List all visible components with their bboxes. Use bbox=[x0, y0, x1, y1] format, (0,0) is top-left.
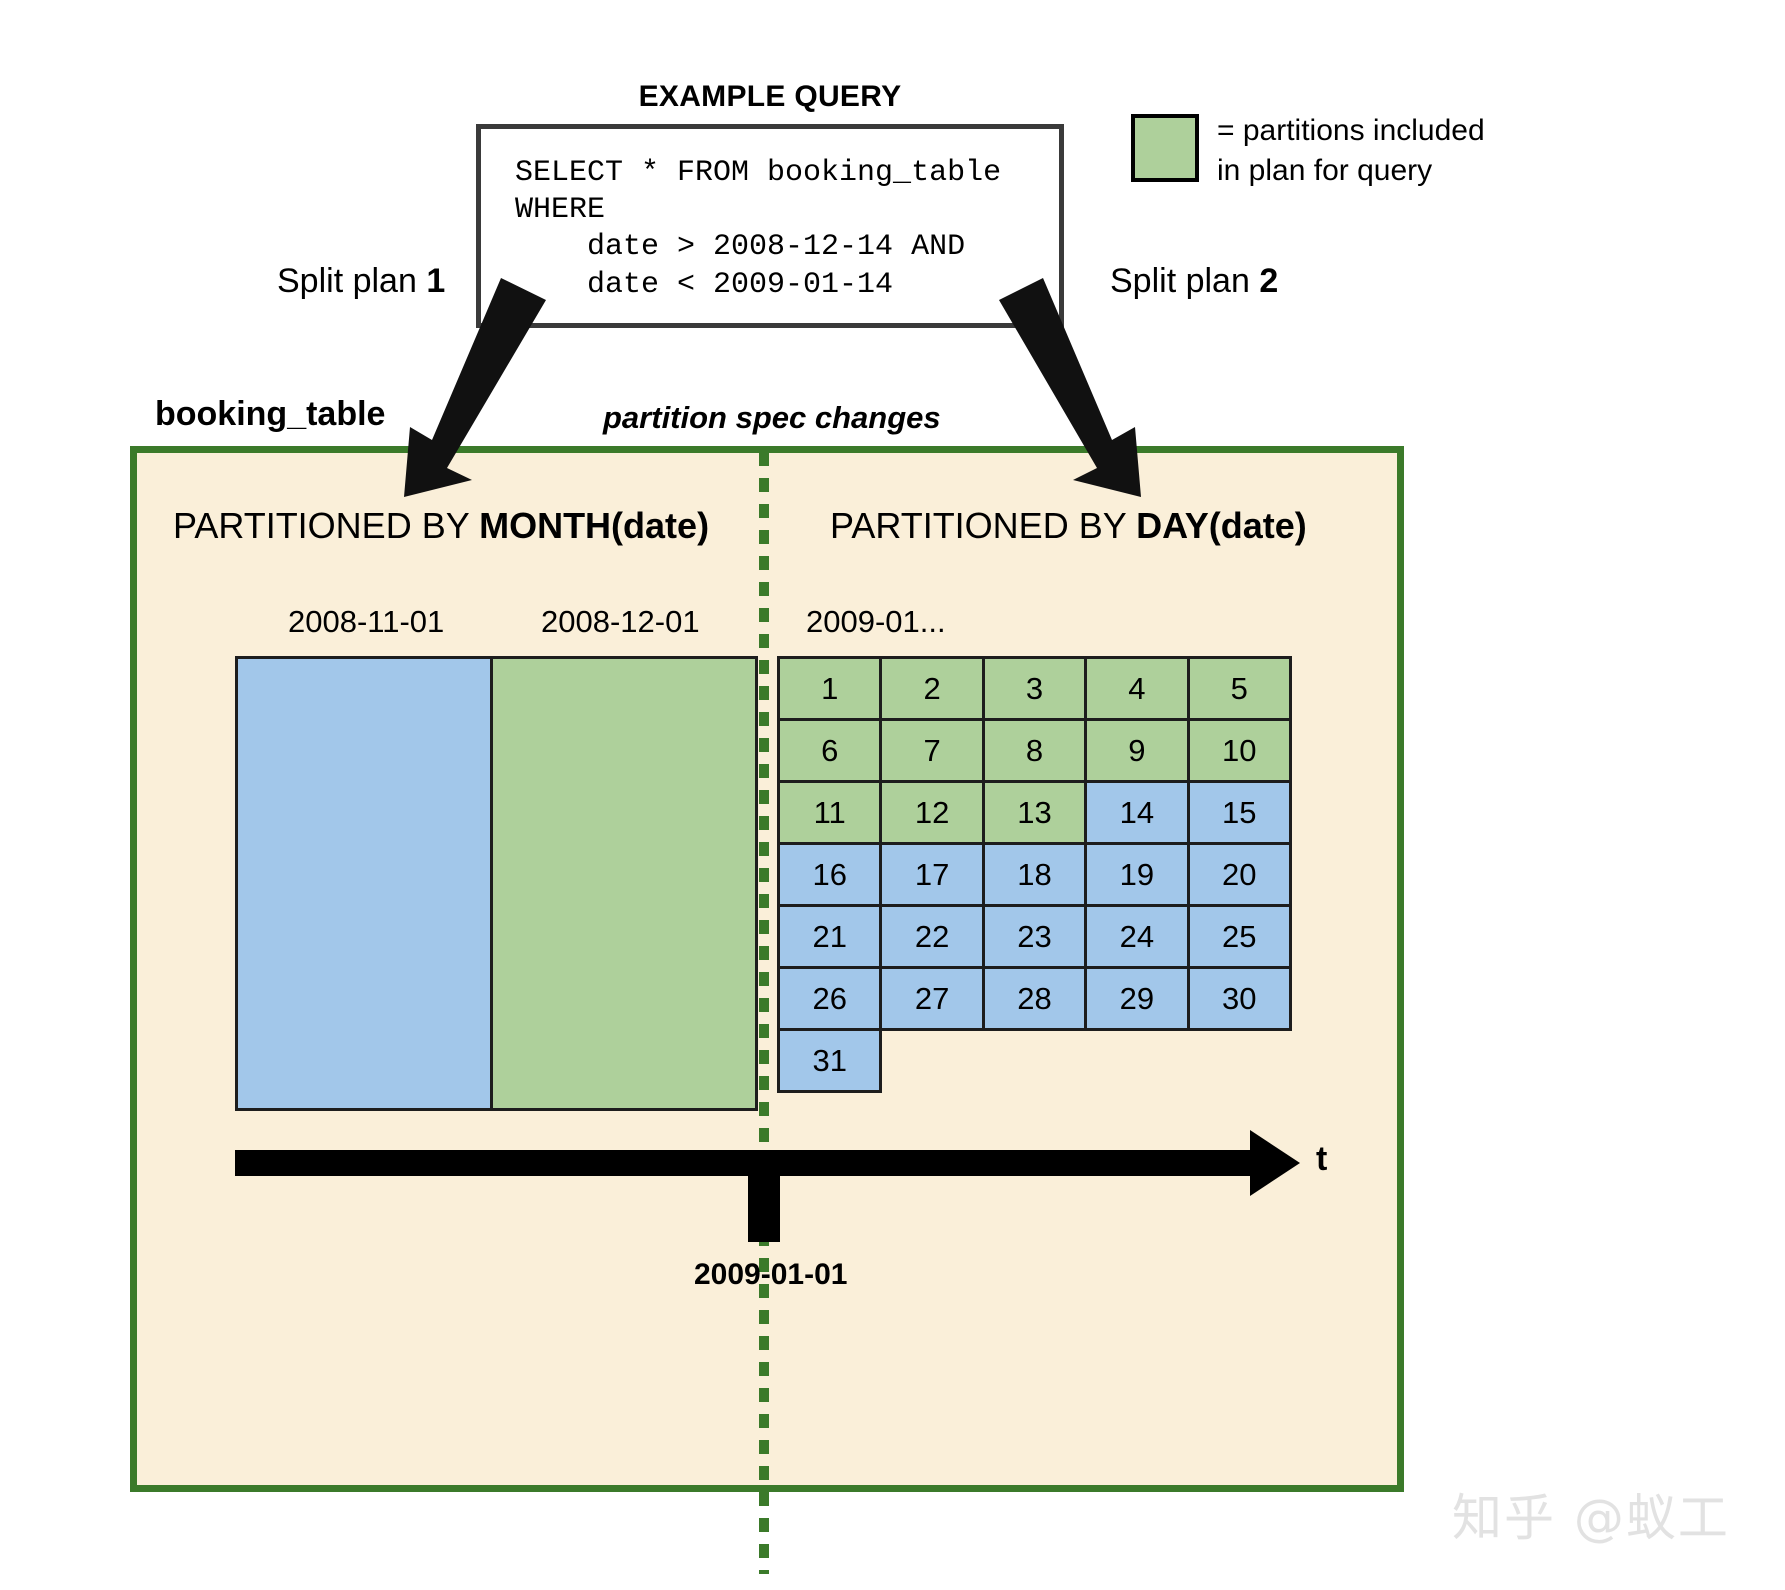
watermark: 知乎 @蚁工 bbox=[1452, 1478, 1730, 1550]
day-partition-cell: 14 bbox=[1084, 780, 1189, 845]
time-axis-tick-label: 2009-01-01 bbox=[694, 1258, 847, 1292]
split-plan-2-number: 2 bbox=[1259, 262, 1278, 300]
day-partition-cell: 4 bbox=[1084, 656, 1189, 721]
example-query-box: SELECT * FROM booking_table WHERE date >… bbox=[476, 124, 1064, 328]
day-partition-cell: 13 bbox=[982, 780, 1087, 845]
day-partition-cell: 24 bbox=[1084, 904, 1189, 969]
day-partition-label: 29 bbox=[1120, 983, 1154, 1014]
day-partition-label: 4 bbox=[1128, 673, 1145, 704]
booking-table-name-label: booking_table bbox=[155, 395, 385, 434]
day-partition-label: 15 bbox=[1222, 797, 1256, 828]
day-partition-label: 22 bbox=[915, 921, 949, 952]
day-partition-label: 16 bbox=[812, 859, 846, 890]
day-partition-cell: 3 bbox=[982, 656, 1087, 721]
day-partition-cell: 29 bbox=[1084, 966, 1189, 1031]
day-partition-cell: 20 bbox=[1187, 842, 1292, 907]
day-partition-label: 19 bbox=[1120, 859, 1154, 890]
day-partition-cell: 25 bbox=[1187, 904, 1292, 969]
day-partition-label: 5 bbox=[1231, 673, 1248, 704]
day-partition-label: 28 bbox=[1017, 983, 1051, 1014]
day-partition-label: 3 bbox=[1026, 673, 1043, 704]
day-partition-label: 12 bbox=[915, 797, 949, 828]
day-partition-cell: 10 bbox=[1187, 718, 1292, 783]
day-partition-label: 20 bbox=[1222, 859, 1256, 890]
day-partition-cell: 28 bbox=[982, 966, 1087, 1031]
day-partition-cell: 26 bbox=[777, 966, 882, 1031]
day-partition-cell: 16 bbox=[777, 842, 882, 907]
day-partition-label: 17 bbox=[915, 859, 949, 890]
month-partition-blocks bbox=[235, 656, 758, 1111]
day-partition-label: 7 bbox=[923, 735, 940, 766]
day-partition-cell: 22 bbox=[879, 904, 984, 969]
day-partition-cell: 30 bbox=[1187, 966, 1292, 1031]
split-plan-1-label: Split plan 1 bbox=[277, 262, 445, 301]
day-partition-label: 14 bbox=[1120, 797, 1154, 828]
partitioned-by-month-expr: MONTH(date) bbox=[479, 505, 709, 546]
day-partition-cell: 12 bbox=[879, 780, 984, 845]
day-partition-cell: 23 bbox=[982, 904, 1087, 969]
legend-swatch-included bbox=[1131, 114, 1199, 182]
time-axis-label: t bbox=[1316, 1140, 1327, 1179]
day-partition-cell: 9 bbox=[1084, 718, 1189, 783]
day-partition-cell: 6 bbox=[777, 718, 882, 783]
day-partition-cell: 18 bbox=[982, 842, 1087, 907]
day-partition-cell: 2 bbox=[879, 656, 984, 721]
day-partition-label: 23 bbox=[1017, 921, 1051, 952]
month-partition-block bbox=[235, 656, 493, 1111]
partitioned-by-day-expr: DAY(date) bbox=[1136, 505, 1307, 546]
day-partition-label: 2 bbox=[923, 673, 940, 704]
split-plan-2-prefix: Split plan bbox=[1110, 262, 1259, 300]
partitioned-by-day-heading: PARTITIONED BY DAY(date) bbox=[830, 505, 1307, 547]
partitioned-by-day-prefix: PARTITIONED BY bbox=[830, 505, 1136, 546]
day-partition-label: 11 bbox=[814, 797, 846, 828]
day-partition-group-label: 2009-01... bbox=[806, 604, 946, 640]
day-partition-cell: 11 bbox=[777, 780, 882, 845]
legend-label: = partitions included in plan for query bbox=[1217, 111, 1485, 191]
sql-query-text: SELECT * FROM booking_table WHERE date >… bbox=[515, 155, 1001, 304]
day-partition-label: 21 bbox=[812, 921, 846, 952]
split-plan-2-label: Split plan 2 bbox=[1110, 262, 1278, 301]
day-partition-cell: 17 bbox=[879, 842, 984, 907]
day-partition-cell: 19 bbox=[1084, 842, 1189, 907]
partition-spec-changes-note: partition spec changes bbox=[603, 400, 941, 436]
partitioned-by-month-prefix: PARTITIONED BY bbox=[173, 505, 479, 546]
day-partition-label: 30 bbox=[1222, 983, 1256, 1014]
day-partition-label: 26 bbox=[812, 983, 846, 1014]
day-partition-label: 1 bbox=[821, 673, 838, 704]
month-partition-block bbox=[490, 656, 758, 1111]
legend: = partitions included in plan for query bbox=[1131, 114, 1485, 191]
day-partition-cell: 31 bbox=[777, 1028, 882, 1093]
day-partition-cell: 7 bbox=[879, 718, 984, 783]
day-partition-label: 10 bbox=[1222, 735, 1256, 766]
split-plan-1-prefix: Split plan bbox=[277, 262, 426, 300]
month-partition-label: 2008-12-01 bbox=[541, 604, 700, 640]
day-partition-cell: 8 bbox=[982, 718, 1087, 783]
split-plan-1-number: 1 bbox=[426, 262, 445, 300]
day-partition-cell: 21 bbox=[777, 904, 882, 969]
day-partition-cell: 15 bbox=[1187, 780, 1292, 845]
day-partition-label: 25 bbox=[1222, 921, 1256, 952]
day-partition-grid: 1234567891011121314151617181920212223242… bbox=[777, 656, 1304, 1090]
partitioned-by-month-heading: PARTITIONED BY MONTH(date) bbox=[173, 505, 709, 547]
day-partition-label: 18 bbox=[1017, 859, 1051, 890]
day-partition-label: 9 bbox=[1128, 735, 1145, 766]
partition-spec-divider bbox=[759, 452, 769, 1574]
day-partition-cell: 1 bbox=[777, 656, 882, 721]
day-partition-label: 31 bbox=[812, 1045, 846, 1076]
page-title: EXAMPLE QUERY bbox=[560, 80, 980, 114]
day-partition-cell: 27 bbox=[879, 966, 984, 1031]
month-partition-label: 2008-11-01 bbox=[288, 604, 444, 640]
day-partition-label: 27 bbox=[915, 983, 949, 1014]
day-partition-label: 6 bbox=[821, 735, 838, 766]
day-partition-cell: 5 bbox=[1187, 656, 1292, 721]
day-partition-label: 24 bbox=[1120, 921, 1154, 952]
day-partition-label: 13 bbox=[1017, 797, 1051, 828]
day-partition-label: 8 bbox=[1026, 735, 1043, 766]
